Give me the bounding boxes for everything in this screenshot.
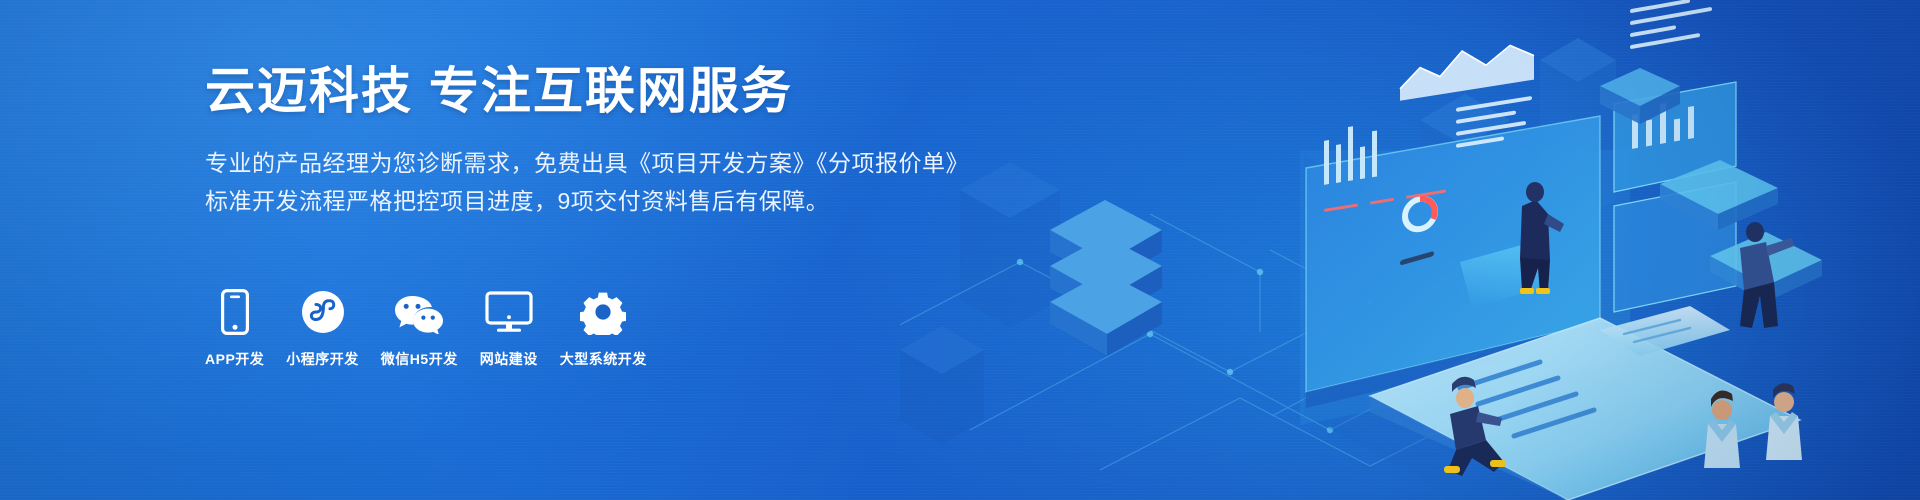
monitor-icon (485, 288, 533, 336)
service-item-app[interactable]: APP开发 (205, 288, 264, 369)
service-item-wechat[interactable]: 微信H5开发 (381, 288, 458, 369)
illustration-container (900, 0, 1920, 500)
mini-program-icon (301, 288, 345, 336)
server-stack (1050, 200, 1162, 356)
service-item-miniprogram[interactable]: 小程序开发 (286, 288, 359, 369)
subtitle-line-1: 专业的产品经理为您诊断需求，免费出具《项目开发方案》《分项报价单》 (205, 145, 905, 181)
service-label-system: 大型系统开发 (560, 349, 647, 369)
service-label-miniprogram: 小程序开发 (286, 349, 359, 369)
subtitle-line-2: 标准开发流程严格把控项目进度，9项交付资料售后有保障。 (205, 183, 905, 219)
wechat-icon (393, 288, 445, 336)
service-label-website: 网站建设 (480, 349, 538, 369)
hero-banner: 云迈科技 专注互联网服务 专业的产品经理为您诊断需求，免费出具《项目开发方案》《… (0, 0, 1920, 500)
service-item-system[interactable]: 大型系统开发 (560, 288, 647, 369)
service-label-wechat: 微信H5开发 (381, 349, 458, 369)
banner-copy: 云迈科技 专注互联网服务 专业的产品经理为您诊断需求，免费出具《项目开发方案》《… (205, 64, 905, 219)
mobile-phone-icon (221, 288, 249, 336)
isometric-illustration (900, 0, 1920, 500)
service-item-website[interactable]: 网站建设 (480, 288, 538, 369)
gear-icon (580, 288, 626, 336)
page-title: 云迈科技 专注互联网服务 (205, 64, 905, 119)
service-label-app: APP开发 (205, 349, 264, 369)
service-list: APP开发 小程序开发 (205, 288, 647, 369)
